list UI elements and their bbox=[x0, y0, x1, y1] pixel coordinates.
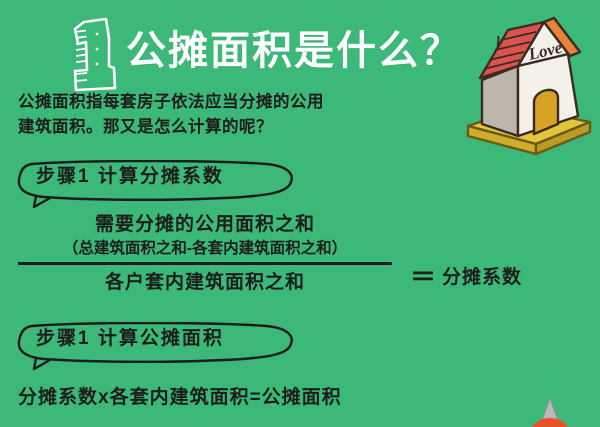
fraction: 需要分摊的公用面积之和 （总建筑面积之和-各套内建筑面积之和） 各户套内建筑面积… bbox=[18, 212, 392, 296]
step-bubble-1: 步骤1 计算分摊系数 bbox=[14, 160, 304, 194]
party-hat-character-icon bbox=[518, 396, 580, 427]
fraction-denominator: 各户套内建筑面积之和 bbox=[18, 270, 392, 296]
equals-sign: ＝ bbox=[410, 264, 436, 290]
formula-result-label: 分摊系数 bbox=[442, 265, 522, 291]
area-formula: 分摊系数x各套内建筑面积=公摊面积 bbox=[18, 385, 342, 411]
fraction-bar bbox=[18, 262, 392, 265]
coefficient-formula: 需要分摊的公用面积之和 （总建筑面积之和-各套内建筑面积之和） 各户套内建筑面积… bbox=[18, 212, 584, 304]
fraction-numerator-main: 需要分摊的公用面积之和 bbox=[18, 212, 392, 238]
intro-line-2: 建筑面积。那又是怎么计算的呢？ bbox=[18, 115, 488, 140]
intro-line-1: 公摊面积指每套房子依法应当分摊的公用 bbox=[18, 90, 488, 115]
page-title: 公摊面积是什么？ bbox=[126, 22, 462, 80]
step-2-label: 步骤1 计算公摊面积 bbox=[36, 327, 224, 351]
step-bubble-2: 步骤1 计算公摊面积 bbox=[14, 322, 304, 356]
step-1-label: 步骤1 计算分摊系数 bbox=[36, 165, 224, 189]
intro-paragraph: 公摊面积指每套房子依法应当分摊的公用 建筑面积。那又是怎么计算的呢？ bbox=[18, 90, 488, 140]
infographic-poster: 公摊面积是什么？ Lo bbox=[0, 0, 600, 427]
building-numeral-one-icon bbox=[62, 16, 124, 94]
fraction-numerator-sub: （总建筑面积之和-各套内建筑面积之和） bbox=[18, 238, 392, 260]
